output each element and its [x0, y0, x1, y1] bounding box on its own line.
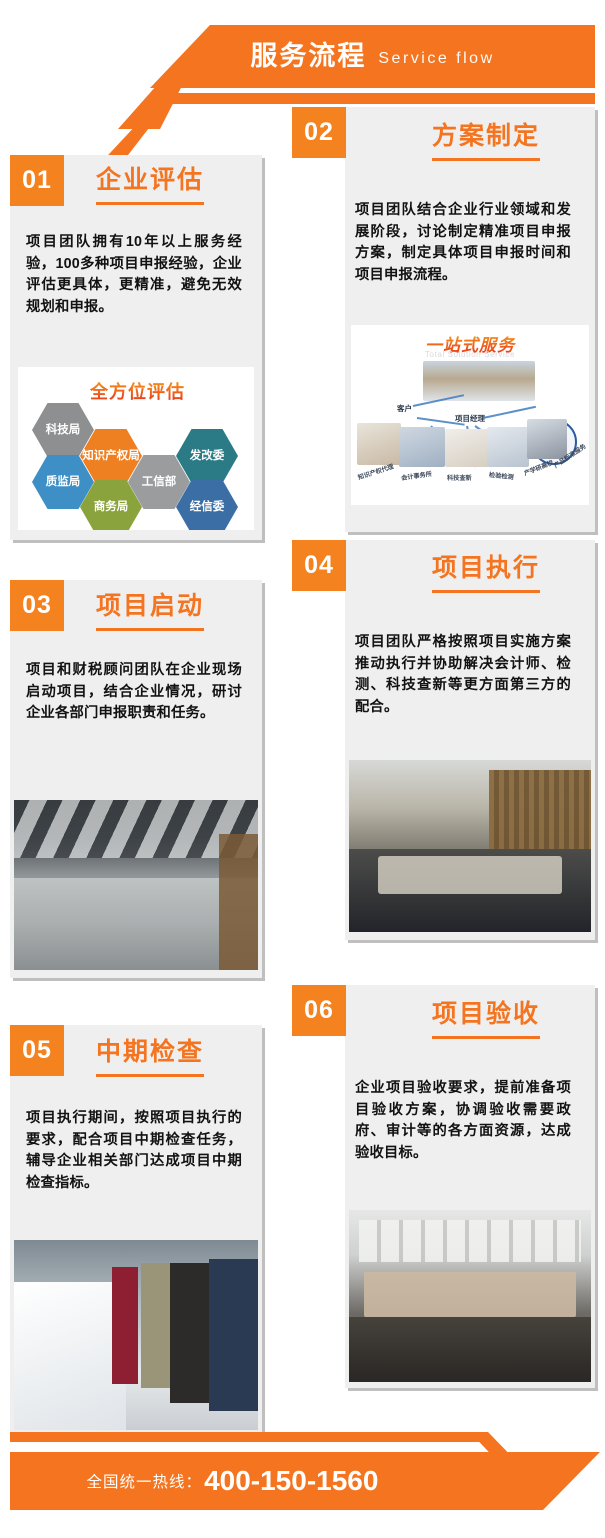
hex-node-label: 经信委	[190, 501, 225, 514]
one-stop-subtitle: Total Solution Service	[351, 350, 589, 359]
header-accent-stripe	[155, 93, 595, 104]
card-01-illustration: 全方位评估 科技局 知识产权局 发改委 质监局 工信部 经信委 商务局	[18, 367, 254, 530]
card-02-number-badge: 02	[292, 107, 346, 158]
card-06-title: 项目验收	[432, 1000, 540, 1028]
hex-node-label: 商务局	[94, 501, 129, 514]
card-01-title: 企业评估	[96, 166, 204, 194]
footer-bar-diagonal-tail	[450, 1452, 600, 1510]
card-03-number-badge: 03	[10, 580, 64, 631]
card-03-title: 项目启动	[96, 592, 204, 620]
card-01-title-group: 企业评估	[96, 168, 204, 205]
card-05-number-badge: 05	[10, 1025, 64, 1076]
hex-node-label: 发改委	[190, 450, 225, 463]
service-photo-ip	[357, 423, 401, 465]
hex-node-label: 知识产权局	[82, 450, 140, 463]
card-02-title-underline	[432, 158, 540, 161]
card-06-title-underline	[432, 1036, 540, 1039]
service-flow-infographic: 服务流程 Service flow 01 企业评估 项目团队拥有10年以上服务经…	[0, 0, 605, 1538]
service-photo-university	[527, 419, 567, 459]
card-04-number: 04	[304, 551, 334, 580]
card-01-number-badge: 01	[10, 155, 64, 206]
footer-banner: 全国统一热线： 400-150-1560	[0, 1432, 605, 1538]
card-03-photo	[14, 800, 258, 970]
card-02-title: 方案制定	[432, 122, 540, 150]
service-label: 检验检测	[489, 470, 515, 482]
hex-chart-title: 全方位评估	[90, 378, 185, 404]
card-05-number: 05	[22, 1036, 52, 1065]
card-03-body: 项目和财税顾问团队在企业现场启动项目，结合企业情况，研讨企业各部门申报职责和任务…	[26, 660, 242, 725]
card-05-photo	[14, 1240, 258, 1430]
card-03-title-group: 项目启动	[96, 594, 204, 631]
hotline-label: 全国统一热线：	[87, 1470, 203, 1492]
card-01-body: 项目团队拥有10年以上服务经验，100多种项目申报经验，企业评估更具体，更精准，…	[26, 232, 242, 319]
one-stop-top-photo	[423, 361, 535, 401]
card-02-illustration: 一站式服务 Total Solution Service 客户 项目经理 ISO…	[351, 325, 589, 505]
card-05-title-group: 中期检查	[96, 1040, 204, 1077]
page-title: 服务流程	[250, 43, 366, 70]
card-06-number: 06	[304, 996, 334, 1025]
hex-node-label: 质监局	[46, 476, 81, 489]
footer-hotline-group: 全国统一热线： 400-150-1560	[10, 1452, 455, 1510]
header-title-group: 服务流程 Service flow	[150, 25, 595, 88]
service-label: 会计事务所	[401, 469, 433, 482]
header-banner: 服务流程 Service flow	[0, 18, 605, 108]
card-05-title: 中期检查	[96, 1038, 204, 1066]
card-03-number: 03	[22, 591, 52, 620]
card-02-body: 项目团队结合企业行业领域和发展阶段，讨论制定精准项目申报方案，制定具体项目申报时…	[355, 200, 571, 287]
card-04-title: 项目执行	[432, 554, 540, 582]
card-06-number-badge: 06	[292, 985, 346, 1036]
service-photo-testing	[487, 427, 529, 467]
hex-node-label: 工信部	[142, 476, 177, 489]
hex-node-label: 科技局	[46, 424, 81, 437]
card-04-body: 项目团队严格按照项目实施方案推动执行并协助解决会计师、检测、科技查新等更方面第三…	[355, 632, 571, 719]
card-02-title-group: 方案制定	[432, 124, 540, 161]
one-stop-client-label: 客户	[397, 403, 412, 414]
card-04-photo	[349, 760, 591, 932]
flow-arrow	[483, 406, 536, 419]
card-01-number: 01	[22, 166, 52, 195]
card-02-number: 02	[304, 118, 334, 147]
card-01-title-underline	[96, 202, 204, 205]
service-photo-search	[445, 429, 489, 467]
hotline-number: 400-150-1560	[204, 1465, 378, 1497]
card-06-title-group: 项目验收	[432, 1002, 540, 1039]
card-06-photo	[349, 1210, 591, 1382]
card-04-title-underline	[432, 590, 540, 593]
card-04-title-group: 项目执行	[432, 556, 540, 593]
card-04-number-badge: 04	[292, 540, 346, 591]
card-03-title-underline	[96, 628, 204, 631]
card-05-body: 项目执行期间，按照项目执行的要求，配合项目中期检查任务，辅导企业相关部门达成项目…	[26, 1108, 242, 1195]
page-subtitle: Service flow	[378, 47, 494, 67]
service-photo-accounting	[399, 427, 445, 467]
service-label: 科技查新	[447, 473, 472, 482]
footer-accent-stripe	[10, 1432, 480, 1442]
card-06-body: 企业项目验收要求，提前准备项目验收方案，协调验收需要政府、审计等的各方面资源，达…	[355, 1078, 571, 1165]
card-05-title-underline	[96, 1074, 204, 1077]
